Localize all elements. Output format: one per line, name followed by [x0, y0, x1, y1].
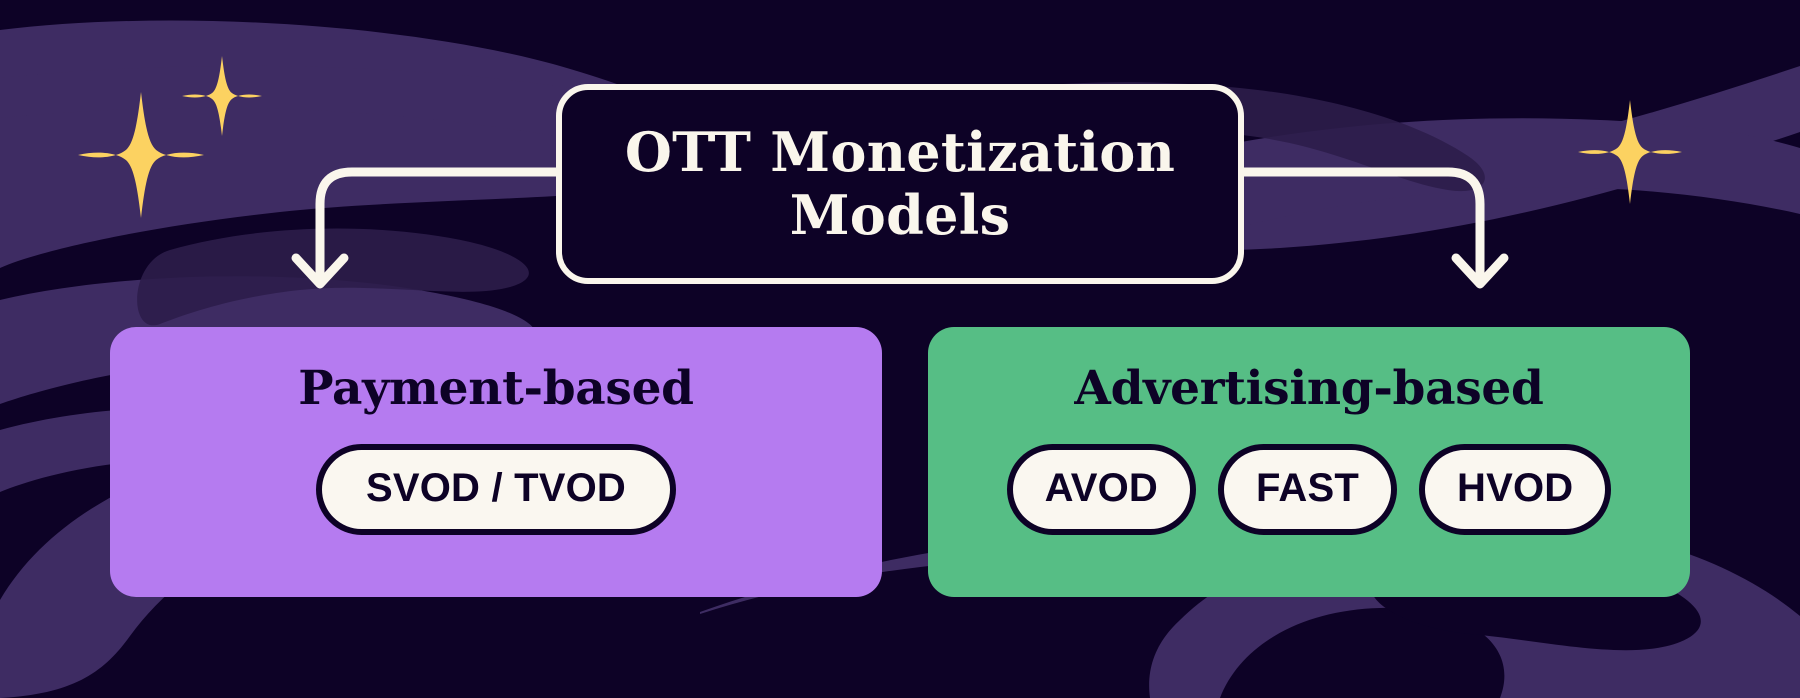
pill-fast[interactable]: FAST: [1218, 444, 1397, 535]
pill-row-advertising-based: AVOD FAST HVOD: [1007, 444, 1612, 535]
sparkle-icon: [182, 56, 262, 136]
branch-title-payment-based: Payment-based: [298, 361, 694, 416]
pill-row-payment-based: SVOD / TVOD: [316, 444, 676, 535]
diagram-canvas: OTT MonetizationModels Payment-based SVO…: [0, 0, 1800, 698]
pill-avod[interactable]: AVOD: [1007, 444, 1196, 535]
branch-card-payment-based: Payment-based SVOD / TVOD: [110, 327, 882, 597]
branch-title-advertising-based: Advertising-based: [1074, 361, 1543, 416]
title-line-2: Models: [790, 183, 1011, 247]
sparkle-icon: [1578, 100, 1682, 204]
branch-card-advertising-based: Advertising-based AVOD FAST HVOD: [928, 327, 1690, 597]
title-line-1: OTT Monetization: [625, 120, 1175, 184]
page-title: OTT MonetizationModels: [599, 121, 1201, 246]
root-node: OTT MonetizationModels: [556, 84, 1244, 284]
pill-svod-tvod[interactable]: SVOD / TVOD: [316, 444, 676, 535]
pill-hvod[interactable]: HVOD: [1419, 444, 1611, 535]
